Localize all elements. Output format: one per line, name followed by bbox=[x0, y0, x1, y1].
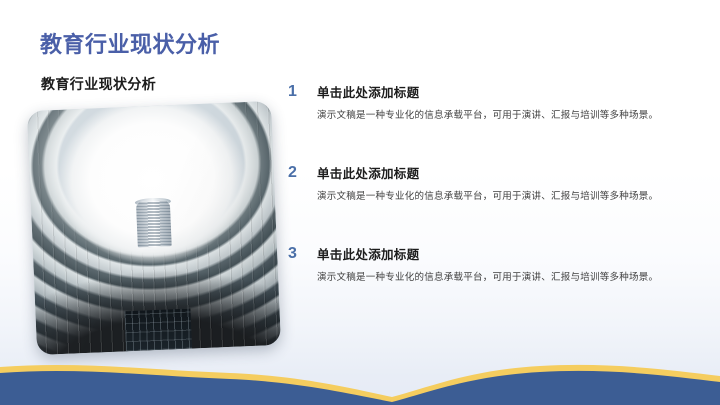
photo-frame[interactable] bbox=[27, 101, 281, 355]
numbered-list: 1 单击此处添加标题 演示文稿是一种专业化的信息承载平台，可用于演讲、汇报与培训… bbox=[288, 86, 688, 284]
list-item-body[interactable]: 演示文稿是一种专业化的信息承载平台，可用于演讲、汇报与培训等多种场景。 bbox=[317, 109, 688, 123]
list-item-number: 1 bbox=[288, 84, 310, 100]
list-item-number: 3 bbox=[288, 246, 310, 262]
list-item-body[interactable]: 演示文稿是一种专业化的信息承载平台，可用于演讲、汇报与培训等多种场景。 bbox=[317, 190, 688, 204]
list-item-heading[interactable]: 单击此处添加标题 bbox=[317, 86, 688, 101]
list-item-heading[interactable]: 单击此处添加标题 bbox=[317, 167, 688, 182]
list-item-number: 2 bbox=[288, 165, 310, 181]
page-subtitle: 教育行业现状分析 bbox=[41, 74, 156, 94]
bottom-wave-decoration bbox=[0, 341, 720, 405]
list-item-heading[interactable]: 单击此处添加标题 bbox=[317, 248, 688, 263]
list-item[interactable]: 3 单击此处添加标题 演示文稿是一种专业化的信息承载平台，可用于演讲、汇报与培训… bbox=[288, 248, 688, 285]
wave-navy-shape bbox=[0, 370, 720, 405]
slide-canvas: 教育行业现状分析 教育行业现状分析 1 单击此处添加标题 演示文稿是一种专业化的… bbox=[0, 0, 720, 405]
page-title: 教育行业现状分析 bbox=[40, 27, 220, 59]
list-item-body[interactable]: 演示文稿是一种专业化的信息承载平台，可用于演讲、汇报与培训等多种场景。 bbox=[317, 271, 688, 285]
list-item[interactable]: 1 单击此处添加标题 演示文稿是一种专业化的信息承载平台，可用于演讲、汇报与培训… bbox=[288, 86, 688, 123]
list-item[interactable]: 2 单击此处添加标题 演示文稿是一种专业化的信息承载平台，可用于演讲、汇报与培训… bbox=[288, 167, 688, 204]
atrium-photo bbox=[27, 101, 281, 355]
photo-sheen bbox=[27, 101, 281, 355]
